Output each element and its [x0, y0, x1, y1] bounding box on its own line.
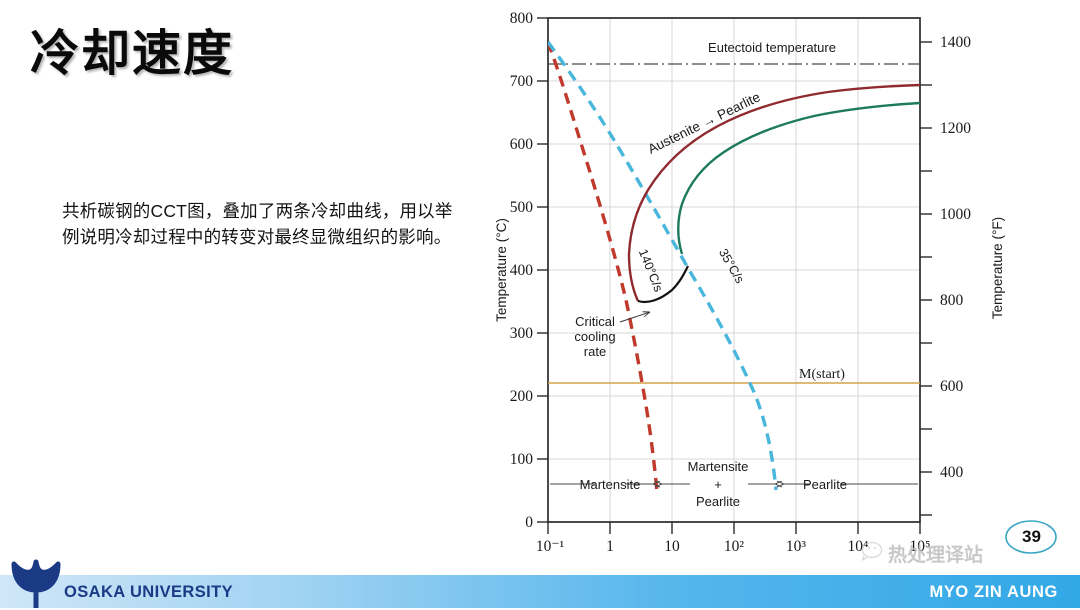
region-label-pearlite: Pearlite: [803, 477, 847, 492]
region-label-martensite-pearlite-line1: Martensite: [688, 459, 749, 474]
cct-diagram-figure: 800 700 600 500 400 300 200 100 0 Temper…: [492, 0, 1080, 560]
y-tick-0: 0: [525, 514, 533, 531]
y-right-tick-800: 800: [940, 292, 964, 309]
x-tick-0: 10⁻¹: [536, 538, 565, 555]
y-axis-right: 1400 1200 1000 800 600 400 Temperature (…: [920, 34, 1005, 515]
region-label-plus: +: [714, 477, 722, 492]
y-tick-200: 200: [510, 388, 534, 405]
y-tick-100: 100: [510, 451, 534, 468]
y-axis-left: 800 700 600 500 400 300 200 100 0 Temper…: [494, 10, 548, 531]
y-right-tick-1200: 1200: [940, 120, 971, 137]
m-start-label: M(start): [799, 367, 845, 382]
footer-university-label: OSAKA UNIVERSITY: [64, 583, 233, 602]
footer-author-label: MYO ZIN AUNG: [929, 583, 1058, 602]
y-axis-left-title: Temperature (°C): [494, 218, 509, 322]
region-label-martensite-pearlite-line2: Pearlite: [696, 494, 740, 509]
x-tick-4: 10³: [786, 538, 807, 555]
y-tick-500: 500: [510, 199, 534, 216]
y-right-tick-600: 600: [940, 378, 964, 395]
critical-cooling-rate-line3: rate: [584, 344, 606, 359]
y-tick-800: 800: [510, 10, 534, 27]
eutectoid-temperature-label: Eutectoid temperature: [708, 40, 836, 55]
x-tick-2: 10: [664, 538, 680, 555]
watermark-text: 热处理译站: [888, 540, 983, 567]
region-label-martensite: Martensite: [580, 477, 641, 492]
wechat-icon: [862, 541, 888, 561]
body-paragraph: 共析碳钢的CCT图，叠加了两条冷却曲线，用以举例说明冷却过程中的转变对最终显微组…: [62, 199, 462, 251]
osaka-university-logo-icon: [8, 558, 64, 610]
y-axis-right-title: Temperature (°F): [990, 217, 1005, 319]
cct-chart-svg: 800 700 600 500 400 300 200 100 0 Temper…: [492, 0, 1080, 560]
y-right-tick-1400: 1400: [940, 34, 971, 51]
y-tick-300: 300: [510, 325, 534, 342]
x-tick-1: 1: [606, 538, 614, 555]
slide-canvas: 冷却速度 共析碳钢的CCT图，叠加了两条冷却曲线，用以举例说明冷却过程中的转变对…: [0, 0, 1080, 608]
x-tick-3: 10²: [724, 538, 745, 555]
page-title: 冷却速度: [30, 14, 234, 85]
y-tick-400: 400: [510, 262, 534, 279]
y-right-tick-1000: 1000: [940, 206, 971, 223]
critical-cooling-rate-line1: Critical: [575, 314, 615, 329]
y-right-tick-400: 400: [940, 464, 964, 481]
page-number: 39: [1022, 527, 1041, 547]
critical-cooling-rate-line2: cooling: [574, 329, 615, 344]
y-tick-700: 700: [510, 73, 534, 90]
y-tick-600: 600: [510, 136, 534, 153]
